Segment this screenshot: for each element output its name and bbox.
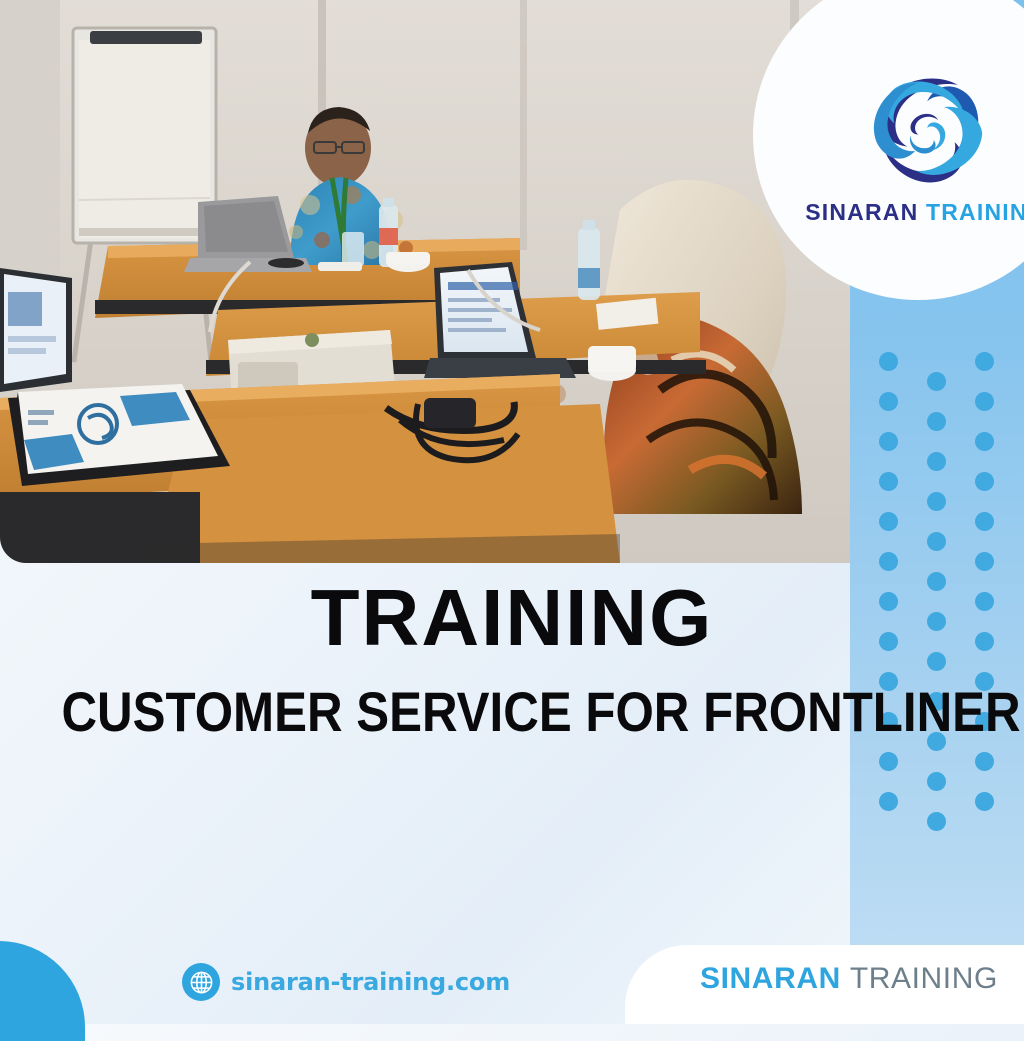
page-title: TRAINING: [0, 578, 1024, 658]
footer-brand: SINARAN TRAINING: [700, 962, 998, 996]
logo-wordmark: SINARAN TRAINING: [805, 199, 1024, 226]
logo-wordmark-training: TRAINING: [926, 199, 1024, 225]
globe-icon: [182, 963, 220, 1001]
page-subtitle: CUSTOMER SERVICE FOR FRONTLINER: [61, 684, 962, 740]
footer-brand-training: TRAINING: [850, 962, 998, 995]
website-url-text: sinaran-training.com: [231, 968, 510, 996]
swirl-spiral-logo-icon: [859, 63, 991, 195]
photo-illustration: [0, 0, 850, 563]
training-photo: [0, 0, 850, 563]
logo-wordmark-sinaran: SINARAN: [805, 199, 918, 225]
website-link[interactable]: sinaran-training.com: [182, 963, 510, 1001]
footer-brand-sinaran: SINARAN: [700, 962, 841, 995]
footer-blue-corner-shape: [0, 941, 85, 1041]
